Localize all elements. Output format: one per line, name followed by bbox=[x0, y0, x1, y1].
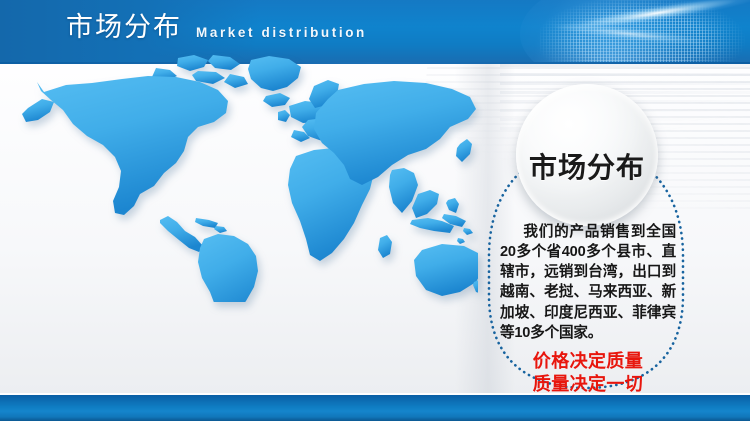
panel-paragraph: 我们的产品销售到全国20多个省400多个县市、直辖市，远销到台湾，出口到越南、老… bbox=[500, 222, 676, 343]
page-title: 市场分布 Market distribution bbox=[66, 14, 367, 41]
world-map-icon bbox=[8, 52, 478, 302]
page-title-cn: 市场分布 bbox=[66, 14, 182, 41]
page-title-en: Market distribution bbox=[196, 26, 367, 42]
footer-whitespace bbox=[0, 421, 750, 440]
footer-bar bbox=[0, 395, 750, 421]
market-distribution-badge: 市场分布 bbox=[516, 84, 658, 226]
badge-label: 市场分布 bbox=[529, 146, 645, 186]
panel-text-block: 我们的产品销售到全国20多个省400多个县市、直辖市，远销到台湾，出口到越南、老… bbox=[500, 222, 676, 396]
slogan-line-1: 价格决定质量 bbox=[500, 350, 676, 373]
slide-market-distribution: 市场分布 Market distribution bbox=[0, 0, 750, 440]
panel-slogan: 价格决定质量 质量决定一切 bbox=[500, 350, 676, 396]
